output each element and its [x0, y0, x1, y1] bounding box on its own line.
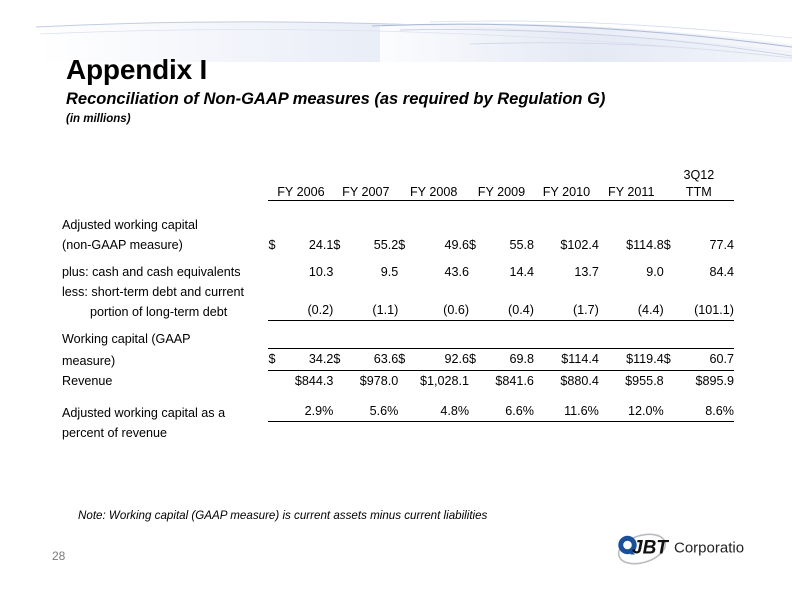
data-cell: $895.9 — [664, 371, 734, 391]
cell-value — [335, 424, 398, 442]
cell-content — [664, 216, 734, 234]
cell-value: 60.7 — [673, 350, 734, 368]
cell-value: (0.6) — [400, 301, 469, 319]
header-swoosh-graphic — [0, 0, 792, 62]
cell-content — [664, 283, 734, 301]
data-cell — [599, 328, 664, 348]
cell-value — [400, 330, 469, 348]
slide-subtitle: Reconciliation of Non-GAAP measures (as … — [66, 90, 766, 109]
data-cell: $55.2 — [333, 234, 398, 254]
row-label: portion of long-term debt — [62, 301, 268, 321]
currency-symbol: $ — [268, 236, 277, 254]
spacer-cell — [333, 391, 398, 402]
cell-value — [400, 216, 469, 234]
data-cell — [398, 214, 469, 234]
column-header-label: FY 2008 — [398, 184, 469, 200]
data-cell: $102.4 — [534, 234, 599, 254]
cell-content: $49.6 — [398, 236, 469, 254]
column-header-label: FY 2011 — [599, 184, 664, 200]
data-cell — [268, 422, 333, 442]
slide-heading: Appendix I Reconciliation of Non-GAAP me… — [66, 55, 766, 127]
cell-content — [469, 283, 534, 301]
spacer-cell — [398, 391, 469, 402]
cell-value — [471, 216, 534, 234]
table-row: Working capital (GAAP — [62, 328, 734, 348]
data-cell: (0.6) — [398, 301, 469, 321]
data-cell — [398, 328, 469, 348]
row-label: percent of revenue — [62, 422, 268, 442]
table-row: less: short-term debt and current — [62, 281, 734, 301]
data-cell — [469, 214, 534, 234]
data-cell — [534, 422, 599, 442]
spacer-cell — [333, 201, 398, 215]
column-header-6: FY 2011 — [599, 168, 664, 201]
data-cell — [469, 422, 534, 442]
data-cell: 2.9% — [268, 402, 333, 422]
data-cell: (1.7) — [534, 301, 599, 321]
cell-content — [534, 283, 599, 301]
spacer-cell — [599, 391, 664, 402]
spacer-cell — [599, 254, 664, 261]
logo-jbt-text: JBT — [632, 538, 669, 559]
data-cell: 84.4 — [664, 261, 734, 281]
cell-value: $102.4 — [536, 236, 599, 254]
column-header-5: FY 2010 — [534, 168, 599, 201]
cell-value — [666, 216, 734, 234]
cell-content: (4.4) — [599, 301, 664, 321]
column-header-top-label: 3Q12 — [664, 168, 734, 184]
spacer-cell — [268, 254, 333, 261]
cell-value: (0.4) — [471, 301, 534, 319]
column-header-label: FY 2010 — [534, 184, 599, 200]
cell-value: 12.0% — [601, 402, 664, 420]
data-cell — [398, 422, 469, 442]
spacer-cell — [664, 201, 734, 215]
cell-content: 2.9% — [268, 402, 333, 422]
cell-content — [268, 424, 333, 442]
row-label: measure) — [62, 348, 268, 370]
table-row: Adjusted working capital as a2.9%5.6%4.8… — [62, 402, 734, 422]
cell-value: $841.6 — [471, 372, 534, 390]
page-title: Appendix I — [66, 55, 766, 85]
cell-value: $880.4 — [536, 372, 599, 390]
currency-symbol: $ — [268, 350, 277, 368]
cell-value — [270, 283, 333, 301]
cell-content: $34.2 — [268, 348, 333, 370]
column-header-label: FY 2006 — [268, 184, 333, 200]
cell-content — [534, 424, 599, 442]
cell-content — [599, 216, 664, 234]
data-cell: $49.6 — [398, 234, 469, 254]
data-cell — [534, 328, 599, 348]
cell-value: $119.4 — [601, 350, 664, 368]
page-number: 28 — [52, 549, 65, 563]
spacer-cell — [268, 321, 333, 328]
cell-value: 55.2 — [342, 236, 398, 254]
cell-content: 43.6 — [398, 263, 469, 281]
data-cell — [333, 422, 398, 442]
cell-value — [536, 216, 599, 234]
currency-symbol: $ — [333, 236, 342, 254]
cell-content: 13.7 — [534, 263, 599, 281]
table-row: percent of revenue — [62, 422, 734, 442]
data-cell: $114.8 — [599, 234, 664, 254]
row-label: plus: cash and cash equivalents — [62, 261, 268, 281]
cell-value: 6.6% — [471, 402, 534, 420]
cell-content: $55.8 — [469, 236, 534, 254]
cell-content: $880.4 — [534, 372, 599, 390]
data-cell: $1,028.1 — [398, 371, 469, 391]
data-cell: 13.7 — [534, 261, 599, 281]
cell-value: 24.1 — [277, 236, 333, 254]
cell-content — [469, 330, 534, 348]
cell-content: $24.1 — [268, 236, 333, 254]
data-cell — [333, 281, 398, 301]
cell-content — [398, 283, 469, 301]
data-cell — [599, 214, 664, 234]
cell-value: (4.4) — [601, 301, 664, 319]
data-cell — [268, 281, 333, 301]
data-cell: (101.1) — [664, 301, 734, 321]
cell-value — [400, 283, 469, 301]
cell-value: (1.1) — [335, 301, 398, 319]
cell-content: 11.6% — [534, 402, 599, 422]
cell-value — [536, 330, 599, 348]
cell-value — [601, 216, 664, 234]
cell-content: $114.4 — [534, 348, 599, 370]
data-cell: 9.0 — [599, 261, 664, 281]
spacer-cell — [268, 201, 333, 215]
spacer-cell — [62, 201, 268, 215]
row-label: Adjusted working capital as a — [62, 402, 268, 422]
cell-content: (0.4) — [469, 301, 534, 321]
cell-value: (1.7) — [536, 301, 599, 319]
data-cell — [534, 281, 599, 301]
cell-content — [469, 424, 534, 442]
data-cell: $69.8 — [469, 348, 534, 370]
column-header-top-label — [398, 168, 469, 184]
data-cell: $24.1 — [268, 234, 333, 254]
cell-value — [536, 424, 599, 442]
table-header-row: FY 2006 FY 2007 FY 2008 FY 2009 FY 2010 … — [62, 168, 734, 201]
data-cell: 14.4 — [469, 261, 534, 281]
cell-content: $955.8 — [599, 372, 664, 390]
cell-value: $114.4 — [536, 350, 599, 368]
cell-value — [335, 283, 398, 301]
cell-content: $63.6 — [333, 348, 398, 370]
cell-value — [601, 424, 664, 442]
cell-value — [601, 330, 664, 348]
spacer-cell — [469, 321, 534, 328]
cell-value: $1,028.1 — [400, 372, 469, 390]
cell-value: 5.6% — [335, 402, 398, 420]
column-header-top-label — [469, 168, 534, 184]
cell-content: $114.8 — [599, 236, 664, 254]
data-cell: $63.6 — [333, 348, 398, 370]
jbt-corporation-logo: JBT Corporation — [612, 526, 744, 570]
cell-value: $978.0 — [335, 372, 398, 390]
spacer-cell — [534, 254, 599, 261]
cell-content: $92.6 — [398, 348, 469, 370]
table-row: measure)$34.2$63.6$92.6$69.8$114.4$119.4… — [62, 348, 734, 370]
cell-content: 8.6% — [664, 402, 734, 422]
currency-symbol: $ — [469, 236, 478, 254]
cell-value: (101.1) — [666, 301, 734, 319]
cell-content: $102.4 — [534, 236, 599, 254]
spacer-cell — [534, 321, 599, 328]
cell-value — [335, 330, 398, 348]
spacer-cell — [534, 391, 599, 402]
cell-content — [664, 424, 734, 442]
cell-value: (0.2) — [270, 301, 333, 319]
data-cell: $880.4 — [534, 371, 599, 391]
cell-content — [268, 330, 333, 348]
spacer-cell — [599, 201, 664, 215]
cell-content — [398, 330, 469, 348]
cell-content: (101.1) — [664, 301, 734, 321]
cell-content — [333, 216, 398, 234]
spacer-cell — [62, 254, 268, 261]
data-cell — [534, 214, 599, 234]
footnote: Note: Working capital (GAAP measure) is … — [78, 509, 487, 522]
cell-value — [666, 330, 734, 348]
spacer-cell — [398, 201, 469, 215]
data-cell — [664, 214, 734, 234]
cell-value: 77.4 — [673, 236, 734, 254]
cell-value: 63.6 — [342, 350, 398, 368]
cell-value — [601, 283, 664, 301]
header-spacer-row — [62, 201, 734, 215]
cell-value: 84.4 — [666, 263, 734, 281]
cell-value: 4.8% — [400, 402, 469, 420]
cell-content: 9.5 — [333, 263, 398, 281]
data-cell — [469, 281, 534, 301]
data-cell: $92.6 — [398, 348, 469, 370]
spacer-cell — [62, 391, 268, 402]
cell-value: 55.8 — [478, 236, 534, 254]
cell-value: $844.3 — [270, 372, 333, 390]
cell-content: 4.8% — [398, 402, 469, 422]
data-cell: $77.4 — [664, 234, 734, 254]
data-cell: $60.7 — [664, 348, 734, 370]
table-corner-cell — [62, 168, 268, 201]
cell-content — [534, 330, 599, 348]
cell-value — [666, 424, 734, 442]
spacer-cell — [664, 321, 734, 328]
row-label: (non-GAAP measure) — [62, 234, 268, 254]
slide-units: (in millions) — [66, 113, 766, 127]
cell-value — [471, 283, 534, 301]
data-cell: (0.4) — [469, 301, 534, 321]
cell-value: $114.8 — [601, 236, 664, 254]
column-header-top-label — [333, 168, 398, 184]
cell-value: 92.6 — [407, 350, 469, 368]
data-cell: 12.0% — [599, 402, 664, 422]
column-header-top-label — [268, 168, 333, 184]
data-cell — [599, 422, 664, 442]
cell-content: 9.0 — [599, 263, 664, 281]
cell-content: $69.8 — [469, 348, 534, 370]
cell-content — [599, 424, 664, 442]
cell-content: $77.4 — [664, 236, 734, 254]
cell-content: 10.3 — [268, 263, 333, 281]
row-label: Adjusted working capital — [62, 214, 268, 234]
cell-content — [333, 283, 398, 301]
cell-content — [599, 283, 664, 301]
row-label: Working capital (GAAP — [62, 328, 268, 348]
data-cell: 6.6% — [469, 402, 534, 422]
reconciliation-table: FY 2006 FY 2007 FY 2008 FY 2009 FY 2010 … — [62, 168, 734, 442]
cell-content — [469, 216, 534, 234]
data-cell: 8.6% — [664, 402, 734, 422]
cell-content: (1.7) — [534, 301, 599, 321]
data-cell: $114.4 — [534, 348, 599, 370]
table-body: Adjusted working capital (non-GAAP measu… — [62, 201, 734, 442]
data-cell: $978.0 — [333, 371, 398, 391]
spacer-cell — [469, 254, 534, 261]
cell-content: $841.6 — [469, 372, 534, 390]
data-cell: $841.6 — [469, 371, 534, 391]
cell-content: (0.6) — [398, 301, 469, 321]
row-label: Revenue — [62, 371, 268, 391]
data-cell: 9.5 — [333, 261, 398, 281]
cell-value: 8.6% — [666, 402, 734, 420]
data-cell — [664, 422, 734, 442]
spacer-cell — [398, 254, 469, 261]
cell-content: (0.2) — [268, 301, 333, 321]
cell-content — [333, 330, 398, 348]
data-cell — [469, 328, 534, 348]
data-cell: 11.6% — [534, 402, 599, 422]
cell-content: $978.0 — [333, 372, 398, 390]
data-cell: (4.4) — [599, 301, 664, 321]
spacer-cell — [62, 321, 268, 328]
cell-value — [335, 216, 398, 234]
cell-content: 14.4 — [469, 263, 534, 281]
data-cell — [268, 328, 333, 348]
cell-value: $955.8 — [601, 372, 664, 390]
column-header-label: FY 2007 — [333, 184, 398, 200]
cell-content: 5.6% — [333, 402, 398, 422]
table-header: FY 2006 FY 2007 FY 2008 FY 2009 FY 2010 … — [62, 168, 734, 201]
spacer-cell — [333, 254, 398, 261]
cell-content — [398, 424, 469, 442]
cell-content: 84.4 — [664, 263, 734, 281]
data-cell — [398, 281, 469, 301]
currency-symbol: $ — [469, 350, 478, 368]
table-row: portion of long-term debt(0.2)(1.1)(0.6)… — [62, 301, 734, 321]
cell-value: 9.0 — [601, 263, 664, 281]
row-gap — [62, 321, 734, 328]
cell-value: $895.9 — [666, 372, 734, 390]
spacer-cell — [664, 391, 734, 402]
cell-content — [398, 216, 469, 234]
cell-value: 13.7 — [536, 263, 599, 281]
cell-value: 43.6 — [400, 263, 469, 281]
cell-value — [270, 330, 333, 348]
cell-content: $895.9 — [664, 372, 734, 390]
data-cell: 4.8% — [398, 402, 469, 422]
column-header-label: TTM — [664, 184, 734, 200]
cell-content: 12.0% — [599, 402, 664, 422]
currency-symbol: $ — [333, 350, 342, 368]
data-cell — [664, 281, 734, 301]
cell-value: 11.6% — [536, 402, 599, 420]
cell-content: $844.3 — [268, 372, 333, 390]
cell-content: 6.6% — [469, 402, 534, 422]
data-cell: $119.4 — [599, 348, 664, 370]
cell-value: 10.3 — [270, 263, 333, 281]
cell-content — [534, 216, 599, 234]
cell-value: 69.8 — [478, 350, 534, 368]
data-cell: $955.8 — [599, 371, 664, 391]
spacer-cell — [333, 321, 398, 328]
cell-content: $1,028.1 — [398, 372, 469, 390]
cell-value — [666, 283, 734, 301]
spacer-cell — [469, 391, 534, 402]
table-row: Revenue$844.3$978.0$1,028.1$841.6$880.4$… — [62, 371, 734, 391]
data-cell — [333, 328, 398, 348]
cell-value: 2.9% — [270, 402, 333, 420]
column-header-2: FY 2007 — [333, 168, 398, 201]
table-row: plus: cash and cash equivalents10.39.543… — [62, 261, 734, 281]
currency-symbol: $ — [664, 350, 673, 368]
cell-value: 34.2 — [277, 350, 333, 368]
column-header-3: FY 2008 — [398, 168, 469, 201]
row-gap — [62, 254, 734, 261]
cell-content — [268, 216, 333, 234]
data-cell: (0.2) — [268, 301, 333, 321]
cell-content: $119.4 — [599, 348, 664, 370]
cell-value — [270, 424, 333, 442]
data-cell: $844.3 — [268, 371, 333, 391]
data-cell — [268, 214, 333, 234]
cell-content: (1.1) — [333, 301, 398, 321]
cell-value: 49.6 — [407, 236, 469, 254]
cell-content — [333, 424, 398, 442]
cell-value: 14.4 — [471, 263, 534, 281]
data-cell: (1.1) — [333, 301, 398, 321]
table-row: (non-GAAP measure)$24.1$55.2$49.6$55.8$1… — [62, 234, 734, 254]
row-gap — [62, 391, 734, 402]
data-cell — [664, 328, 734, 348]
cell-value — [400, 424, 469, 442]
currency-symbol: $ — [664, 236, 673, 254]
column-header-1: FY 2006 — [268, 168, 333, 201]
cell-value — [536, 283, 599, 301]
cell-content — [599, 330, 664, 348]
column-header-label: FY 2009 — [469, 184, 534, 200]
data-cell: $55.8 — [469, 234, 534, 254]
data-cell: 43.6 — [398, 261, 469, 281]
table-row: Adjusted working capital — [62, 214, 734, 234]
cell-value — [471, 424, 534, 442]
data-cell: $34.2 — [268, 348, 333, 370]
spacer-cell — [469, 201, 534, 215]
currency-symbol: $ — [398, 350, 407, 368]
data-cell: 10.3 — [268, 261, 333, 281]
cell-value — [270, 216, 333, 234]
spacer-cell — [599, 321, 664, 328]
cell-content — [268, 283, 333, 301]
cell-content: $60.7 — [664, 348, 734, 370]
data-cell: 5.6% — [333, 402, 398, 422]
cell-content — [664, 330, 734, 348]
data-cell — [333, 214, 398, 234]
cell-content: $55.2 — [333, 236, 398, 254]
logo-corporation-text: Corporation — [674, 540, 744, 557]
spacer-cell — [268, 391, 333, 402]
